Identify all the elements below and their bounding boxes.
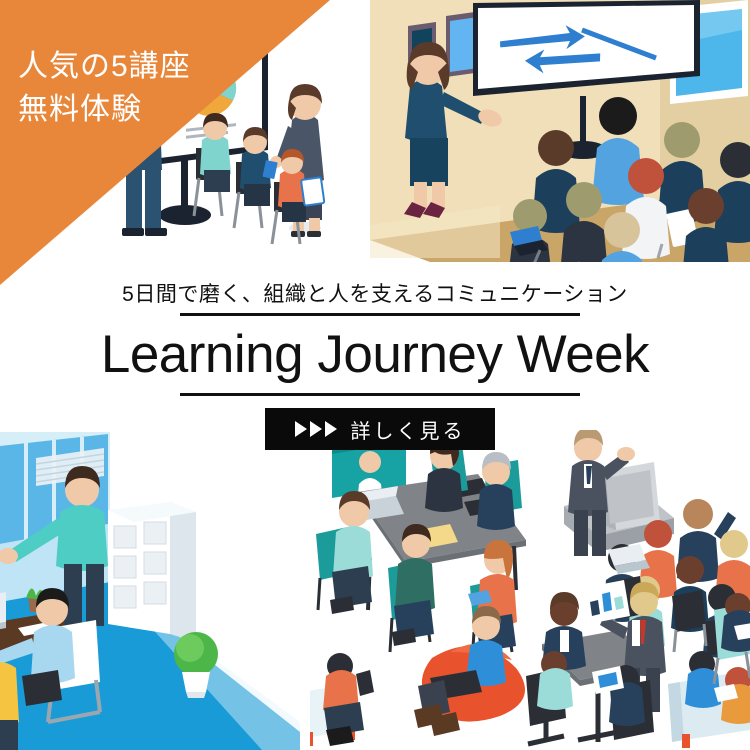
triple-play-arrow-icon (295, 421, 337, 437)
ribbon-line-1: 人気の5講座 (18, 46, 248, 89)
collaboration-group-illustration (310, 430, 750, 750)
ribbon-line-2: 無料体験 (18, 89, 248, 132)
details-button-label: 詳しく見る (351, 415, 466, 444)
page-title: Learning Journey Week (0, 320, 750, 390)
headline-block: 5日間で磨く、組織と人を支えるコミュニケーション Learning Journe… (0, 268, 750, 458)
ribbon-text: 人気の5講座 無料体験 (18, 46, 248, 131)
office-workspace-illustration (0, 432, 320, 750)
divider-bottom (180, 393, 580, 396)
divider-top (180, 313, 580, 316)
details-button[interactable]: 詳しく見る (265, 408, 495, 450)
promo-banner: 人気の5講座 無料体験 5日間で磨く、組織と人を支えるコミュニケーション Lea… (0, 0, 750, 750)
classroom-lecture-illustration (370, 0, 750, 262)
subtitle: 5日間で磨く、組織と人を支えるコミュニケーション (0, 278, 750, 308)
